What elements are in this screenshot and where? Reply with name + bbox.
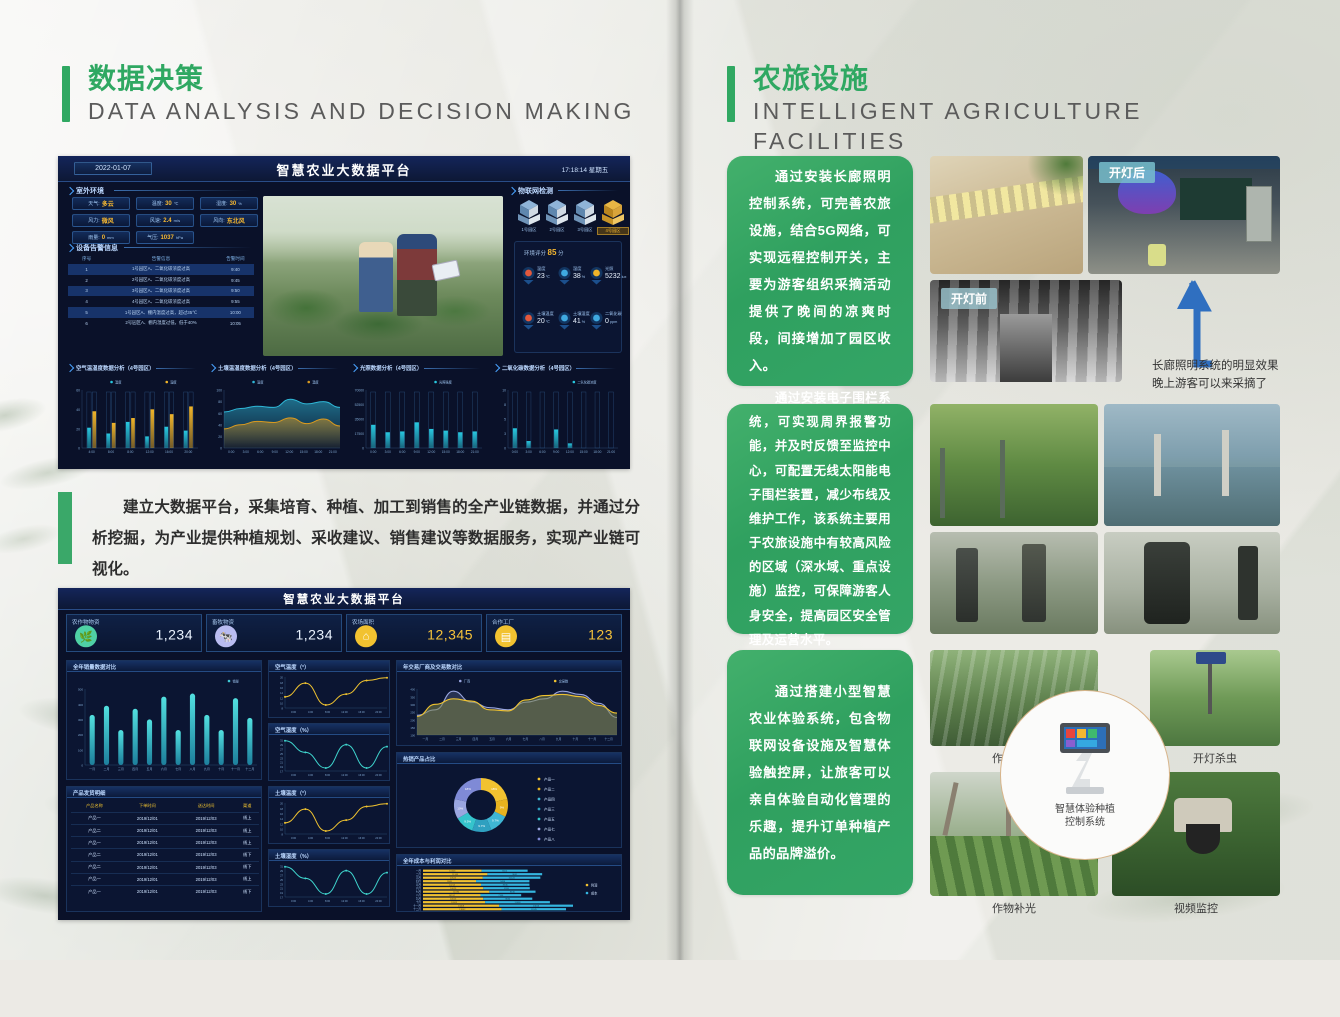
shipping-cell: 产品二 [71,824,118,836]
svg-text:35000: 35000 [355,418,365,422]
shipping-row: 产品一2019/12/012019/12/03线下 [71,885,259,897]
kiosk-icon [1052,721,1118,797]
alarm-cell: 10:00 [217,307,254,318]
line-chart: 81012141618200:004:008:0012:0016:0020:00 [269,799,391,844]
chart-title: 土壤温湿度数据分析（4号园区） [218,364,296,372]
shipping-cell: 线上 [235,873,259,885]
alarm-row: 51号园区A、棚内温度过高，超过35℃10:00 [68,307,254,318]
svg-text:4:00: 4:00 [308,710,314,714]
walkway [1000,314,1052,382]
iot-metric-土壤温度: 土壤温度20℃ [522,311,556,349]
svg-text:20:00: 20:00 [375,836,382,840]
svg-text:成本: 成本 [591,890,598,895]
svg-text:10625: 10625 [450,888,457,890]
sensor-value: 多云 [102,199,114,208]
soil-temp-icon [522,312,535,330]
svg-text:七月: 七月 [416,889,422,893]
outdoor-sensor-温度: 温度:30℃ [136,197,194,210]
panel-title: 土壤湿度（%） [275,852,312,860]
sensor-value: 0 [102,235,105,241]
panel-title: 空气温度（°） [275,663,310,671]
svg-text:5: 5 [504,418,506,422]
svg-text:15:00: 15:00 [580,450,588,454]
svg-text:300: 300 [410,703,415,707]
dashboard1-date-chip: 2022-01-07 [74,162,152,175]
iot-metric-unit: lux [622,275,627,279]
svg-text:七月: 七月 [523,737,529,741]
facility-text-experience: 通过搭建小型智慧农业体验系统，包含物联网设备设施及智慧体验触控屏，让旅客可以亲自… [727,678,913,867]
chart-title-rule [156,368,197,369]
svg-text:十二月: 十二月 [245,766,254,771]
svg-text:6:00: 6:00 [399,450,405,454]
svg-text:四月: 四月 [132,767,138,771]
dashboard1-time-chip: 17:18:14 星期五 [552,162,618,175]
caption-video-monitor: 视频监控 [1112,900,1280,916]
iot-zone-2号园区[interactable]: 2号园区 [544,196,570,238]
fence-pillar-2 [1222,430,1229,496]
kpi-农作物物资: 农作物物资🌿1,234 [66,614,202,652]
alarm-cell: 6 [68,318,105,329]
iot-metric-value: 20℃ [537,318,550,325]
left-title-en: DATA ANALYSIS AND DECISION MAKING [88,96,662,126]
alarm-row: 11号园区A、二氧化碳浓度过高9:40 [68,264,254,275]
svg-text:23: 23 [280,756,283,760]
svg-text:三月: 三月 [456,737,462,741]
svg-text:10214: 10214 [449,884,456,886]
svg-text:10: 10 [280,827,283,831]
alarm-cell: 2 [68,275,105,286]
svg-text:500: 500 [78,688,83,692]
svg-text:六月: 六月 [416,886,422,890]
svg-text:0:00: 0:00 [291,899,297,903]
svg-text:12:00: 12:00 [566,450,574,454]
svg-text:8536: 8536 [503,884,509,886]
iot-metric-二氧化碳: 二氧化碳0ppm [590,311,624,349]
svg-text:9%: 9% [500,806,505,810]
cow-icon: 🐄 [215,625,237,647]
svg-text:厂商: 厂商 [464,678,470,683]
thermometer-icon [522,267,535,285]
svg-text:11345: 11345 [531,909,538,911]
sensor-label: 天气: [88,200,99,207]
pond-water [1104,467,1280,526]
svg-text:11345: 11345 [452,874,459,876]
svg-text:350: 350 [410,695,415,699]
panel-title: 全年成本与利润对比 [403,857,452,865]
shipping-cell: 产品二 [71,861,118,873]
svg-text:18: 18 [280,681,283,685]
alarm-row: 22号园区A、二氧化碳浓度过高9:45 [68,275,254,286]
svg-text:产品八: 产品八 [544,836,555,841]
svg-text:400: 400 [410,688,415,692]
shipping-cell: 2019/12/01 [118,812,177,824]
svg-text:21:00: 21:00 [471,450,479,454]
svg-text:十月: 十月 [573,737,579,741]
sensor-value: 30 [165,201,172,207]
photo-fence-controller [1104,532,1280,634]
sensor-unit: ℃ [174,201,179,206]
svg-text:产品一: 产品一 [544,776,555,781]
leaf-overlay [1027,156,1083,196]
env-score-unit: 分 [558,251,564,257]
left-accent-bar [62,66,70,122]
plant-icon: 🌿 [75,625,97,647]
svg-text:29: 29 [280,869,283,873]
sensor-unit: m/s [174,218,180,223]
control-box [1246,186,1272,242]
shipping-row: 产品二2019/12/012019/12/03线下 [71,861,259,873]
iot-metric-label: 二氧化碳 [605,311,622,317]
svg-text:12:00: 12:00 [341,836,348,840]
svg-text:200: 200 [78,733,83,737]
svg-text:0:00: 0:00 [291,773,297,777]
right-title-cn: 农旅设施 [753,62,1287,96]
svg-text:交易数: 交易数 [559,678,569,683]
svg-text:二月: 二月 [416,872,422,876]
dark-panel [1180,178,1252,220]
alarm-row: 62号园区A、棚内湿度过低，低于40%10:05 [68,318,254,329]
right-title-en: INTELLIGENT AGRICULTURE FACILITIES [753,96,1287,156]
iot-zone-1号园区[interactable]: 1号园区 [516,196,542,238]
shipping-cell: 2019/12/01 [118,837,177,849]
svg-text:16:00: 16:00 [358,710,365,714]
svg-text:18%: 18% [491,787,497,791]
fence-post-a [940,448,945,518]
svg-text:四月: 四月 [416,879,422,883]
alarm-col-0: 序号 [68,254,105,264]
iot-metric-value: 38% [573,273,585,280]
outdoor-title-rule [114,190,252,191]
svg-text:八月: 八月 [539,737,545,741]
svg-text:光照强度: 光照强度 [439,379,453,384]
svg-text:8:00: 8:00 [325,899,331,903]
photo-led-strip [930,156,1083,274]
svg-text:产品七: 产品七 [544,826,555,831]
panel-annual-sales: 全年销量数据对比销量0100200300400500一月二月三月四月五月六月七月… [66,660,262,780]
svg-text:12:00: 12:00 [427,450,435,454]
chart-title-rule [576,368,616,369]
svg-text:100: 100 [216,389,222,393]
panel-air-humidity: 空气湿度（%）17192123252729310:004:008:0012:00… [268,723,390,781]
alarm-title-rule [124,247,252,248]
sensor-value: 1037 [160,235,173,241]
alarm-cell: 1 [68,264,105,275]
svg-text:16:00: 16:00 [358,836,365,840]
photo-fence-pond [1104,404,1280,526]
sensor-label: 湿度: [216,200,227,207]
svg-text:0: 0 [220,447,222,451]
paragraph-accent-bar [58,492,72,564]
alarm-col-1: 告警信息 [105,254,217,264]
svg-text:0:00: 0:00 [512,450,518,454]
svg-text:21: 21 [280,761,283,765]
svg-text:150: 150 [410,726,415,730]
svg-text:十一月: 十一月 [413,903,421,907]
svg-text:温度: 温度 [312,379,319,384]
chart-canvas: 二氧化碳浓度0358100:003:006:009:0012:0015:0018… [492,374,624,460]
iot-metric-湿度: 湿度38% [558,266,592,304]
shipping-cell: 线上 [235,837,259,849]
alarm-row: 33号园区A、二氧化碳浓度过高9:50 [68,286,254,297]
svg-text:400: 400 [78,703,83,707]
svg-text:40: 40 [218,423,222,427]
seated-person [1148,244,1166,266]
svg-text:3:00: 3:00 [243,450,249,454]
sensor-value: 微风 [102,216,114,225]
shipping-cell: 2019/12/03 [177,885,236,897]
alarm-cell: 9:40 [217,264,254,275]
svg-text:十月: 十月 [416,900,422,904]
shipping-table: 产品名称下单时间送达时间渠道产品一2019/12/012019/12/03线上产… [71,801,259,897]
svg-text:16:00: 16:00 [358,773,365,777]
iot-zone-4号园区[interactable]: 4号园区 [600,196,626,238]
svg-text:湿度: 湿度 [257,379,264,384]
panel-title: 年交易厂商及交易数对比 [403,663,462,671]
facility-text-fence: 通过安装电子围栏系统，可实现周界报警功能，并及时反馈至监控中心，可配置无线太阳能… [727,386,913,652]
svg-text:12:00: 12:00 [146,450,154,454]
svg-text:八月: 八月 [416,893,422,897]
svg-text:21:00: 21:00 [607,450,615,454]
iot-metric-土壤湿度: 土壤湿度41% [558,311,592,349]
book-spine [666,0,694,960]
photo-pest-lamp [1150,650,1280,746]
sensor-label: 风速: [150,217,161,224]
outdoor-sensor-风速: 风速:2.4m/s [136,214,194,227]
iot-panel-title: 物联网检测 [518,186,553,196]
svg-text:0: 0 [81,764,83,768]
iot-metric-光照: 光照5232lux [590,266,624,304]
donut-chart: 18%9%9.7%9.7%9.5%10%18%产品一产品二产品四产品三产品五产品… [397,765,623,849]
factory-icon: ▤ [495,625,517,647]
kiosk-caption-line1: 智慧体验种植 [1055,803,1115,817]
svg-text:10124: 10124 [509,877,516,879]
dashboard2-title: 智慧农业大数据平台 [58,591,630,607]
left-paragraph: 建立大数据平台，采集培育、种植、加工到销售的全产业链数据，并通过分析挖掘，为产业… [92,492,640,585]
svg-text:20:00: 20:00 [375,773,382,777]
chart-title: 二氧化碳数据分析（4号园区） [502,364,575,372]
svg-text:七月: 七月 [175,766,181,771]
svg-text:湿度: 湿度 [170,379,177,384]
svg-text:13408: 13408 [458,905,465,907]
solar-panel [1196,652,1226,664]
svg-text:21:00: 21:00 [329,450,337,454]
greenhouse-icon [516,196,542,226]
svg-text:13013: 13013 [533,905,540,907]
svg-text:10613: 10613 [450,898,457,900]
shipping-cell: 线上 [235,812,259,824]
panel-vendor-transactions: 年交易厂商及交易数对比厂商交易数100150200250300350400一月二… [396,660,622,746]
svg-text:9.7%: 9.7% [492,818,499,822]
shipping-cell: 2019/12/01 [118,873,177,885]
iot-metric-温度: 温度23℃ [522,266,556,304]
sensor-label: 气压: [147,234,158,241]
svg-text:0: 0 [362,447,364,451]
chart-canvas: 温度湿度02040604:008:008:0012:0016:0020:00 [66,374,204,460]
photo-fence-devices [930,532,1098,634]
panel-title: 产品发货明细 [73,789,105,797]
camera-dome [1186,824,1220,854]
vendor-area-chart: 厂商交易数100150200250300350400一月二月三月四月五月六月七月… [397,673,623,747]
svg-text:0:00: 0:00 [228,450,234,454]
svg-text:10328: 10328 [449,870,456,872]
svg-text:五月: 五月 [489,737,495,741]
svg-text:产品四: 产品四 [544,796,555,801]
svg-text:10943: 10943 [451,902,458,904]
panel-title: 全年销量数据对比 [73,663,116,671]
svg-text:4:00: 4:00 [308,836,314,840]
kiosk-circle-inset: 智慧体验种植 控制系统 [1000,690,1170,860]
svg-text:十一月: 十一月 [231,766,240,771]
svg-text:300: 300 [78,718,83,722]
facility-text-lighting: 通过安装长廊照明控制系统，可完善农旅设施，结合5G网络，可实现远程控制开关，主要… [727,163,913,380]
outdoor-sensor-风力: 风力:微风 [72,214,130,227]
svg-text:温度: 温度 [115,379,122,384]
iot-title-rule [558,190,618,191]
svg-text:8: 8 [282,833,284,837]
shipping-col: 产品名称 [71,801,118,812]
svg-text:12: 12 [280,696,283,700]
svg-text:六月: 六月 [161,766,167,771]
farm-icon: ⌂ [355,625,377,647]
svg-text:销量: 销量 [233,678,240,683]
light-pole-a [942,782,958,836]
iot-metric-unit: ℃ [546,320,550,324]
shipping-row: 产品一2019/12/012019/12/03线上 [71,812,259,824]
sensor-label: 风力: [88,217,99,224]
sensor-value: 30 [230,201,237,207]
alarm-table: 序号告警信息告警时间11号园区A、二氧化碳浓度过高9:4022号园区A、二氧化碳… [68,254,254,329]
svg-text:10: 10 [280,701,283,705]
caption-pest-lamp: 开灯杀虫 [1150,750,1280,766]
svg-text:100: 100 [78,748,83,752]
svg-text:四月: 四月 [473,737,479,741]
lighting-note-line1: 长廊照明系统的明显效果 [1152,358,1312,376]
alarm-cell: 9:55 [217,296,254,307]
svg-text:12: 12 [280,822,283,826]
facility-card-experience: 通过搭建小型智慧农业体验系统，包含物联网设备设施及智慧体验触控屏，让旅客可以亲自… [727,650,913,895]
svg-text:产品三: 产品三 [544,806,555,811]
chart-title-rule [298,368,339,369]
svg-text:16: 16 [280,812,283,816]
shipping-cell: 2019/12/03 [177,812,236,824]
svg-text:23: 23 [280,882,283,886]
svg-text:8:00: 8:00 [127,450,133,454]
svg-text:20: 20 [76,427,80,431]
svg-text:80: 80 [218,400,222,404]
svg-text:8:00: 8:00 [325,710,331,714]
svg-text:0: 0 [504,447,506,451]
svg-text:九月: 九月 [204,766,210,771]
line-chart: 81012141618200:004:008:0012:0016:0020:00 [269,673,391,718]
annual-sales-chart: 销量0100200300400500一月二月三月四月五月六月七月八月九月十月十一… [67,673,263,779]
sensor-label: 温度: [152,200,163,207]
shipping-cell: 2019/12/01 [118,885,177,897]
greenhouse-icon [544,196,570,226]
shipping-row: 产品一2019/12/012019/12/03线上 [71,837,259,849]
svg-text:利润: 利润 [591,882,597,887]
shipping-row: 产品二2019/12/012019/12/03线上 [71,824,259,836]
svg-text:12:00: 12:00 [341,773,348,777]
shipping-cell: 产品一 [71,885,118,897]
shipping-cell: 产品二 [71,849,118,861]
env-score-label: 环境评分 [524,251,546,257]
svg-text:9:00: 9:00 [272,450,278,454]
svg-text:8:00: 8:00 [325,773,331,777]
alarm-cell: 4 [68,296,105,307]
fence-device-b [1022,544,1046,622]
svg-text:一月: 一月 [416,868,422,872]
kpi-value: 1,234 [155,627,193,643]
iot-zone-label: 4号园区 [597,227,629,235]
tag-after-lights: 开灯后 [1099,162,1155,183]
alarm-row: 44号园区A、二氧化碳浓度过高9:55 [68,296,254,307]
svg-text:16:00: 16:00 [358,899,365,903]
iot-metric-label: 土壤湿度 [573,311,590,317]
co2-icon [590,312,603,330]
alarm-cell: 5 [68,307,105,318]
panel-title: 空气湿度（%） [275,726,312,734]
kpi-农场面积: 农场面积⌂12,345 [346,614,482,652]
iot-metric-value: 23℃ [537,273,550,280]
shipping-col: 渠道 [235,801,259,812]
sensor-value: 2.4 [163,218,171,224]
chart-1: 土壤温湿度数据分析（4号园区）湿度温度0204060801000:003:006… [208,362,346,462]
alarm-cell: 3 [68,286,105,297]
sensor-unit: mm [107,235,114,240]
alarm-panel-title: 设备告警信息 [76,243,118,253]
sensor-label: 雨量: [88,234,99,241]
svg-text:产品五: 产品五 [544,816,555,821]
svg-text:12:00: 12:00 [285,450,293,454]
alarm-cell: 1号园区A、二氧化碳浓度过高 [105,264,217,275]
iot-metric-label: 温度 [537,266,545,272]
svg-text:0:00: 0:00 [291,836,297,840]
shipping-row: 产品二2019/12/012019/12/03线下 [71,849,259,861]
svg-text:7166: 7166 [498,895,504,897]
shipping-cell: 2019/12/01 [118,861,177,873]
svg-text:产品二: 产品二 [544,786,555,791]
svg-text:9406: 9406 [500,881,506,883]
svg-text:九月: 九月 [416,896,422,900]
svg-text:16: 16 [280,686,283,690]
iot-metric-value: 0ppm [605,318,617,325]
greenhouse-icon [600,196,626,226]
shipping-cell: 产品一 [71,873,118,885]
iot-zone-3号园区[interactable]: 3号园区 [572,196,598,238]
svg-text:15:00: 15:00 [442,450,450,454]
controller-pole [1238,546,1258,620]
kpi-合作工厂: 合作工厂▤123 [486,614,622,652]
svg-text:20: 20 [218,435,222,439]
svg-text:60: 60 [76,389,80,393]
shipping-cell: 产品一 [71,837,118,849]
panel-cost-profit: 全年成本与利润对比一月103288102二月113459641三月1054310… [396,854,622,912]
lighting-effect-note: 长廊照明系统的明显效果 晚上游客可以来采摘了 [1152,358,1312,394]
alarm-cell: 4号园区A、二氧化碳浓度过高 [105,296,217,307]
svg-text:0: 0 [78,447,80,451]
lighting-note-line2: 晚上游客可以来采摘了 [1152,376,1312,394]
svg-text:8:00: 8:00 [108,450,114,454]
controller-box [1144,542,1190,624]
svg-text:18: 18 [280,807,283,811]
sensor-unit: hPa [176,235,183,240]
panel-hot-products: 热销产品占比18%9%9.7%9.7%9.5%10%18%产品一产品二产品四产品… [396,752,622,848]
svg-text:13842: 13842 [459,909,466,911]
svg-text:31: 31 [280,739,283,743]
chart-title: 光照数据分析（4号园区） [360,364,422,372]
svg-text:9.5%: 9.5% [464,819,471,823]
svg-text:8:00: 8:00 [325,836,331,840]
